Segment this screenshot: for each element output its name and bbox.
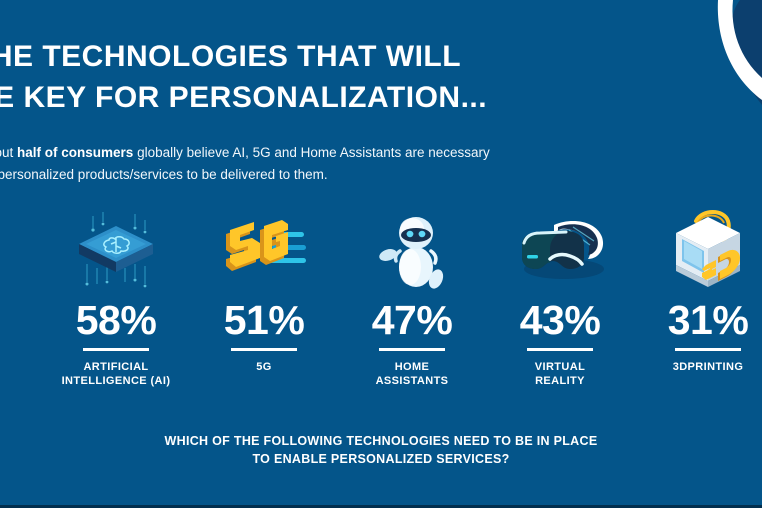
subtitle-highlight: half of consumers <box>17 145 133 160</box>
statistics-row: 58% ARTIFICIAL INTELLIGENCE (AI) 51% <box>42 208 762 388</box>
page-title-line-1: THE TECHNOLOGIES THAT WILL <box>0 36 492 77</box>
three-d-printer-icon <box>662 207 754 291</box>
subtitle: About half of consumers globally believe… <box>0 142 658 186</box>
subtitle-line-2: for personalized products/services to be… <box>0 164 658 186</box>
stat-label: 3DPRINTING <box>673 360 744 374</box>
stat-icon-wrapper <box>662 208 754 290</box>
stat-value: 43% <box>520 298 601 342</box>
stat-label: 5G <box>256 360 271 374</box>
corner-swoosh-decoration <box>632 0 762 105</box>
stat-divider <box>379 348 445 351</box>
subtitle-line-1: About half of consumers globally believe… <box>0 142 658 164</box>
stat-value: 31% <box>668 298 749 342</box>
stat-item-artificial-intelligence: 58% ARTIFICIAL INTELLIGENCE (AI) <box>42 208 190 388</box>
survey-question-line-2: TO ENABLE PERSONALIZED SERVICES? <box>0 450 762 468</box>
survey-question-line-1: WHICH OF THE FOLLOWING TECHNOLOGIES NEED… <box>0 432 762 450</box>
stat-item-5g: 51% 5G <box>190 208 338 374</box>
subtitle-suffix: globally believe AI, 5G and Home Assista… <box>133 145 489 160</box>
stat-item-home-assistants: 47% HOME ASSISTANTS <box>338 208 486 388</box>
stat-icon-wrapper <box>73 208 159 290</box>
stat-divider <box>527 348 593 351</box>
stat-item-3d-printing: 31% 3DPRINTING <box>634 208 762 374</box>
stat-icon-wrapper <box>372 208 452 290</box>
stat-icon-wrapper <box>216 208 312 290</box>
stat-divider <box>231 348 297 351</box>
stat-value: 51% <box>224 298 305 342</box>
stat-divider <box>83 348 149 351</box>
subtitle-prefix: About <box>0 145 17 160</box>
stat-divider <box>675 348 741 351</box>
five-g-speed-icon <box>216 214 312 284</box>
robot-assistant-icon <box>372 209 452 289</box>
page-title-line-2: BE KEY FOR PERSONALIZATION... <box>0 77 492 118</box>
stat-label: ARTIFICIAL INTELLIGENCE (AI) <box>62 360 171 388</box>
stat-icon-wrapper <box>510 208 610 290</box>
stat-label: VIRTUAL REALITY <box>535 360 585 388</box>
page-title: THE TECHNOLOGIES THAT WILL BE KEY FOR PE… <box>0 36 492 118</box>
survey-question: WHICH OF THE FOLLOWING TECHNOLOGIES NEED… <box>0 432 762 468</box>
ai-chip-brain-icon <box>73 210 159 288</box>
stat-value: 47% <box>372 298 453 342</box>
stat-label: HOME ASSISTANTS <box>376 360 449 388</box>
vr-headset-icon <box>510 211 610 287</box>
stat-item-virtual-reality: 43% VIRTUAL REALITY <box>486 208 634 388</box>
stat-value: 58% <box>76 298 157 342</box>
